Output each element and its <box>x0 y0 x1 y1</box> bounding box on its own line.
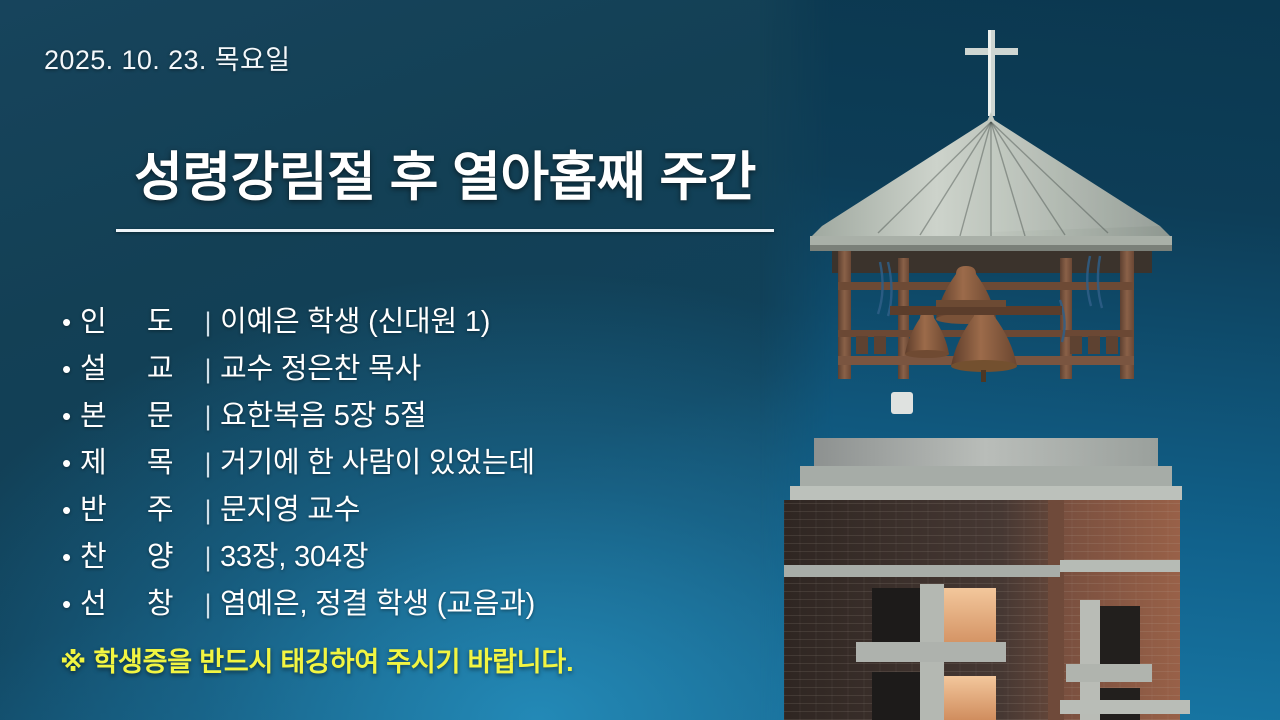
row-label-char-1: 본 <box>80 392 107 434</box>
list-item: • 찬 양 | 33장, 304장 <box>62 533 802 580</box>
row-label-char-1: 제 <box>80 439 107 481</box>
bullet-icon: • <box>62 450 80 476</box>
row-value: 문지영 교수 <box>220 486 360 528</box>
list-item: • 반 주 | 문지영 교수 <box>62 486 802 533</box>
row-value: 교수 정은찬 목사 <box>220 345 421 387</box>
tower-window-lit <box>944 588 996 650</box>
list-item: • 설 교 | 교수 정은찬 목사 <box>62 345 802 392</box>
row-label-char-2: 문 <box>147 392 174 434</box>
row-label: 선 창 <box>80 580 196 622</box>
bullet-icon: • <box>62 497 80 523</box>
tower-window-lit <box>944 676 996 720</box>
bullet-icon: • <box>62 544 80 570</box>
row-label-char-2: 교 <box>147 345 174 387</box>
row-separator: | <box>196 448 220 479</box>
row-value: 33장, 304장 <box>220 533 368 575</box>
row-separator: | <box>196 354 220 385</box>
row-label-char-2: 창 <box>147 580 174 622</box>
row-value: 거기에 한 사람이 있었는데 <box>220 439 535 481</box>
row-separator: | <box>196 589 220 620</box>
row-separator: | <box>196 307 220 338</box>
notice-text: ※ 학생증을 반드시 태깅하여 주시기 바랍니다. <box>60 640 573 679</box>
row-label: 제 목 <box>80 439 196 481</box>
tower-cap <box>790 438 1182 500</box>
window-mullion-horizontal <box>1066 664 1152 682</box>
row-separator: | <box>196 495 220 526</box>
row-value: 이예은 학생 (신대원 1) <box>220 298 490 340</box>
row-label: 찬 양 <box>80 533 196 575</box>
row-label-char-2: 주 <box>147 486 174 528</box>
row-label-char-1: 설 <box>80 345 107 387</box>
slide-canvas: 2025. 10. 23. 목요일 성령강림절 후 열아홉째 주간 • 인 도 … <box>0 0 1280 720</box>
row-label-char-2: 도 <box>147 298 174 340</box>
list-item: • 인 도 | 이예은 학생 (신대원 1) <box>62 298 802 345</box>
row-label-char-1: 찬 <box>80 533 107 575</box>
service-info-list: • 인 도 | 이예은 학생 (신대원 1) • 설 교 | 교수 정은찬 목사… <box>62 298 802 627</box>
title-block: 성령강림절 후 열아홉째 주간 <box>0 148 890 232</box>
list-item: • 선 창 | 염예은, 정결 학생 (교음과) <box>62 580 802 627</box>
row-label-char-1: 반 <box>80 486 107 528</box>
tower-window <box>1096 606 1140 664</box>
row-separator: | <box>196 542 220 573</box>
row-label-char-2: 양 <box>147 533 174 575</box>
slide-date: 2025. 10. 23. 목요일 <box>44 38 290 77</box>
belfry-equipment-box <box>891 392 913 414</box>
bullet-icon: • <box>62 591 80 617</box>
church-bell-tower-photo <box>760 0 1280 720</box>
row-value: 염예은, 정결 학생 (교음과) <box>220 580 535 622</box>
bell-tower-illustration <box>760 0 1280 720</box>
row-label: 인 도 <box>80 298 196 340</box>
window-mullion-horizontal <box>856 642 1006 662</box>
row-label-char-1: 인 <box>80 298 107 340</box>
row-separator: | <box>196 401 220 432</box>
cross-finial <box>965 30 1018 116</box>
bullet-icon: • <box>62 403 80 429</box>
list-item: • 본 문 | 요한복음 5장 5절 <box>62 392 802 439</box>
page-title: 성령강림절 후 열아홉째 주간 <box>0 148 890 207</box>
list-item: • 제 목 | 거기에 한 사람이 있었는데 <box>62 439 802 486</box>
title-divider <box>116 229 774 232</box>
row-label: 본 문 <box>80 392 196 434</box>
bullet-icon: • <box>62 309 80 335</box>
row-label-char-2: 목 <box>147 439 174 481</box>
tower-body <box>784 500 1190 720</box>
row-label-char-1: 선 <box>80 580 107 622</box>
row-value: 요한복음 5장 5절 <box>220 392 426 434</box>
row-label: 설 교 <box>80 345 196 387</box>
bullet-icon: • <box>62 356 80 382</box>
row-label: 반 주 <box>80 486 196 528</box>
